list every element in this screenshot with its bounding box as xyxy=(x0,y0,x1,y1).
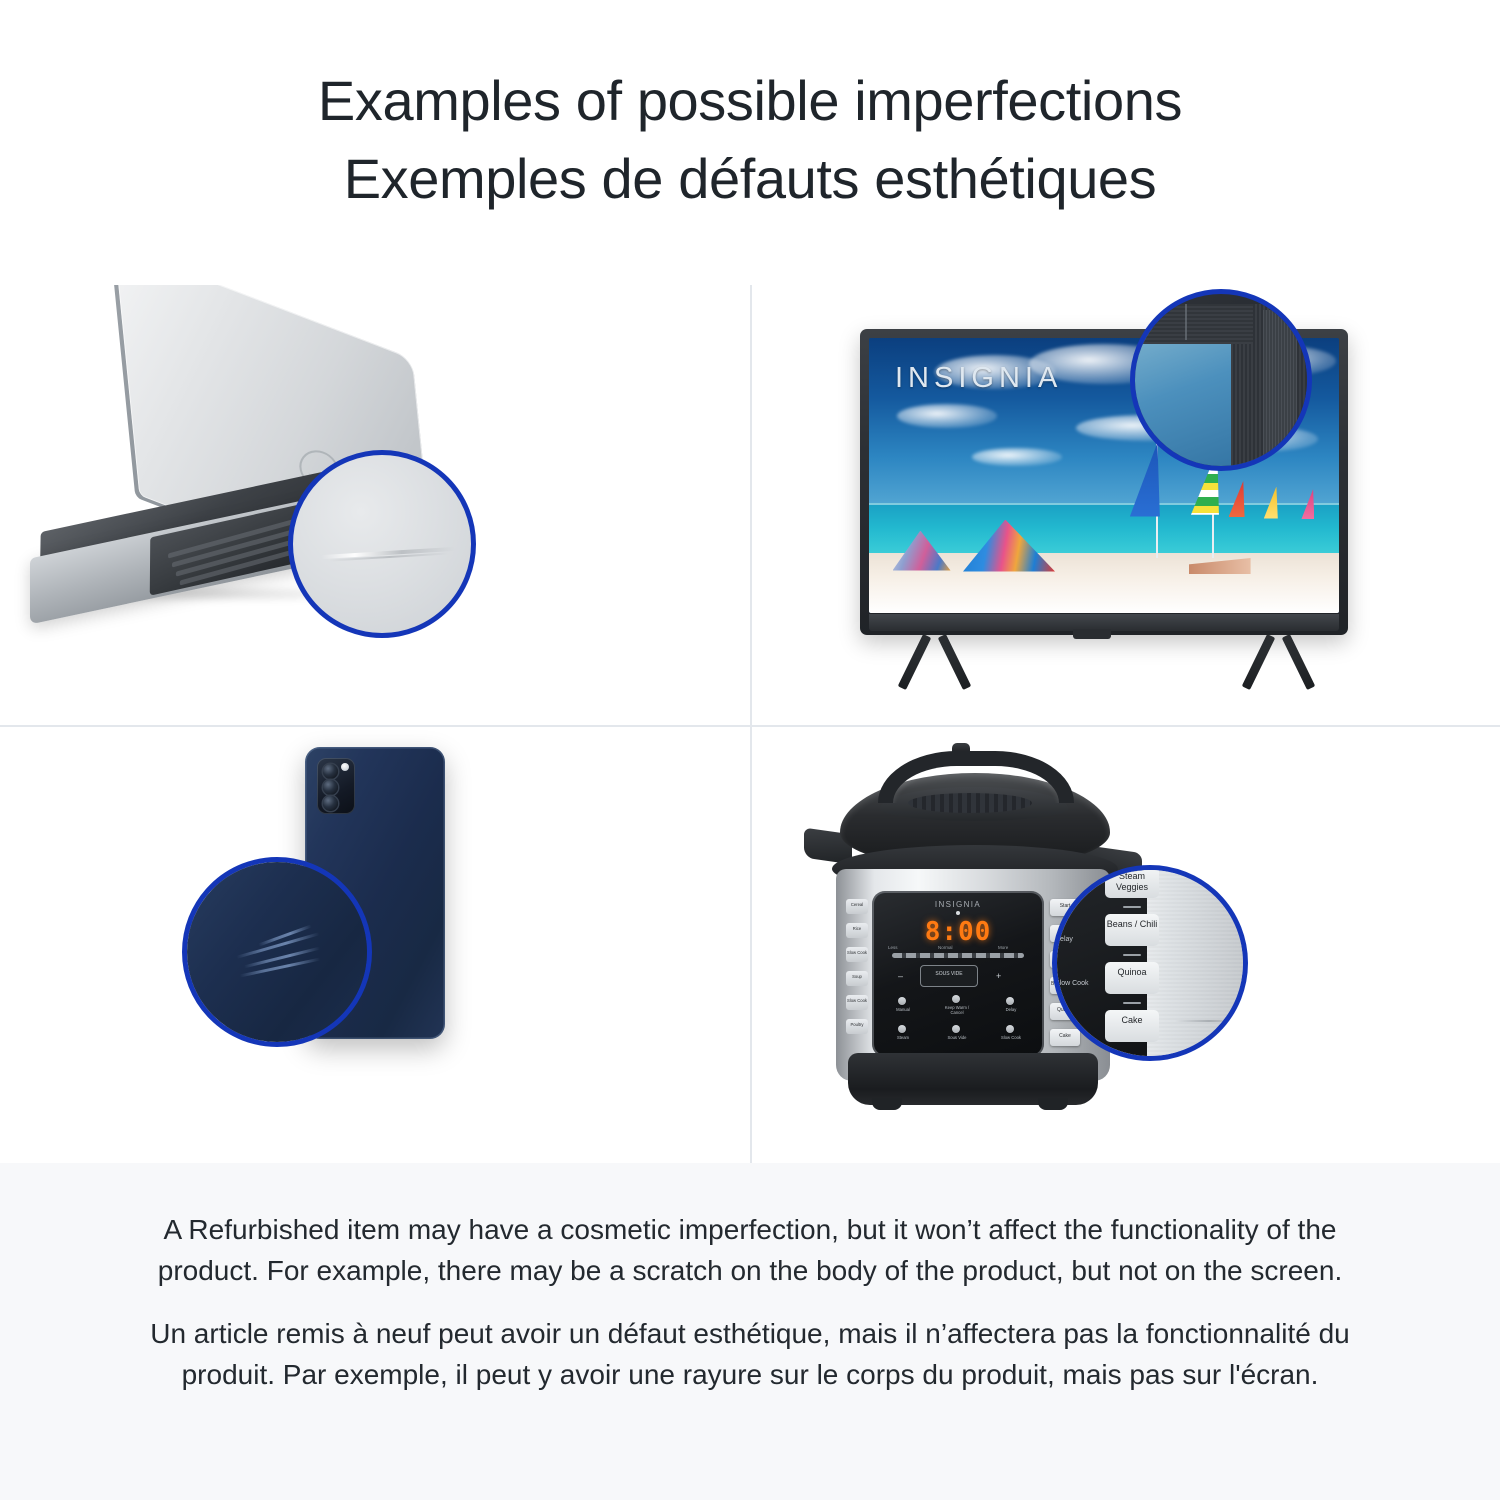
tv-magnified-bezel-edge xyxy=(1263,310,1297,471)
cooker-magnified-scratch xyxy=(1175,1020,1243,1022)
tv-screen-brand-logo: INSIGNIA xyxy=(895,362,1062,395)
title-line-fr: Exemples de défauts esthétiques xyxy=(0,140,1500,218)
phone-camera-lens-3 xyxy=(323,796,338,811)
cooker-indicator-light xyxy=(956,911,960,915)
cooker-button-rice[interactable]: Rice xyxy=(846,923,868,938)
phone-camera-lens-2 xyxy=(323,780,338,795)
phone-camera-lens-1 xyxy=(323,764,338,779)
cooker-led-display: 8:00 xyxy=(872,917,1044,947)
cooker-button-steam-dot[interactable] xyxy=(898,1025,906,1033)
cooker-lid-handle xyxy=(878,751,1074,803)
cooker-button-manual-dot[interactable] xyxy=(898,997,906,1005)
cooker-button-poultry[interactable]: Poultry xyxy=(846,1019,868,1034)
cooker-slider-label-normal: Normal xyxy=(938,945,953,950)
tv-scene-horizon xyxy=(869,503,1339,505)
panel-cooker: INSIGNIA 8:00 Less Normal More – SOUS VI… xyxy=(752,727,1500,1163)
cooker-magnified-dash-1 xyxy=(1123,906,1141,908)
cooker-magnified-button-quinoa[interactable]: Quinoa xyxy=(1105,962,1159,994)
tv-magnified-bezel-top xyxy=(1130,304,1253,344)
tv-foot-left xyxy=(898,634,932,690)
footer-paragraph-en: A Refurbished item may have a cosmetic i… xyxy=(150,1163,1350,1291)
footer-description: A Refurbished item may have a cosmetic i… xyxy=(0,1163,1500,1500)
cooker-illustration: INSIGNIA 8:00 Less Normal More – SOUS VI… xyxy=(752,727,1500,1163)
phone-magnifier-circle xyxy=(182,857,372,1047)
cooker-mode-display: SOUS VIDE xyxy=(920,965,978,987)
infographic-page: Examples of possible imperfections Exemp… xyxy=(0,0,1500,1500)
cooker-pressure-slider[interactable] xyxy=(892,953,1024,958)
tv-foot-right2 xyxy=(1282,634,1316,690)
cooker-button-keepwarm-label: Keep Warm / Cancel xyxy=(942,1005,972,1015)
phone-magnified-back-panel xyxy=(187,862,367,1042)
cooker-button-slowcook-label: Slow Cook xyxy=(996,1035,1026,1040)
cooker-control-panel: INSIGNIA 8:00 Less Normal More – SOUS VI… xyxy=(872,891,1044,1057)
cooker-minus-button[interactable]: – xyxy=(898,971,903,981)
cooker-brand-label: INSIGNIA xyxy=(872,900,1044,909)
laptop-magnifier-circle xyxy=(288,450,476,638)
phone-camera-module xyxy=(317,758,355,814)
cooker-magnified-button-beanschili[interactable]: Beans / Chili xyxy=(1105,914,1159,946)
cooker-magnified-button-cake[interactable]: Cake xyxy=(1105,1010,1159,1042)
cooker-foot-left xyxy=(872,1098,902,1110)
tv-foot-right xyxy=(1242,634,1276,690)
phone-flash-icon xyxy=(341,763,349,771)
cooker-button-slowcook2[interactable]: Slow Cook xyxy=(846,995,868,1010)
cooker-magnified-dash-3 xyxy=(1123,1002,1141,1004)
cooker-magnifier-circle: Delay Slow Cook Steam Veggies Beans / Ch… xyxy=(1052,865,1248,1061)
panel-laptop xyxy=(0,285,750,725)
laptop-illustration xyxy=(0,285,750,725)
cooker-magnified-label-delay: Delay xyxy=(1055,936,1091,948)
tv-illustration: INSIGNIA xyxy=(752,285,1500,725)
tv-magnified-bezel-seam xyxy=(1185,304,1187,340)
tv-magnifier-circle xyxy=(1130,289,1312,471)
page-title: Examples of possible imperfections Exemp… xyxy=(0,62,1500,218)
cooker-base xyxy=(848,1053,1098,1105)
cooker-slider-label-less: Less xyxy=(888,945,898,950)
cooker-button-keepwarm-dot[interactable] xyxy=(952,995,960,1003)
cooker-button-sousvide-dot[interactable] xyxy=(952,1025,960,1033)
panel-tv: INSIGNIA xyxy=(752,285,1500,725)
product-grid: INSIGNIA xyxy=(0,285,1500,1163)
cooker-button-slowcook[interactable]: Slow Cook xyxy=(846,947,868,962)
cooker-button-delay-label: Delay xyxy=(996,1007,1026,1012)
cooker-button-delay-dot[interactable] xyxy=(1006,997,1014,1005)
cooker-button-manual-label: Manual xyxy=(888,1007,918,1012)
panel-phone xyxy=(0,727,750,1163)
cooker-magnified-dash-2 xyxy=(1123,954,1141,956)
cooker-magnified-label-slowcook: Slow Cook xyxy=(1055,980,1091,992)
tv-foot-left2 xyxy=(938,634,972,690)
cooker-mode-text: SOUS VIDE xyxy=(921,971,977,977)
title-line-en: Examples of possible imperfections xyxy=(0,62,1500,140)
cooker-button-sousvide-label: Sous Vide xyxy=(942,1035,972,1040)
cooker-foot-right xyxy=(1038,1098,1068,1110)
cooker-button-steam-label: Steam xyxy=(888,1035,918,1040)
cooker-button-cereal[interactable]: Cereal xyxy=(846,899,868,914)
cooker-button-slowcook-dot[interactable] xyxy=(1006,1025,1014,1033)
cooker-magnified-button-steamveggies[interactable]: Steam Veggies xyxy=(1105,866,1159,898)
cooker-plus-button[interactable]: + xyxy=(996,971,1001,981)
phone-illustration xyxy=(0,727,750,1163)
footer-paragraph-fr: Un article remis à neuf peut avoir un dé… xyxy=(150,1291,1350,1395)
cooker-button-soup[interactable]: Soup xyxy=(846,971,868,986)
tv-ir-sensor xyxy=(1073,629,1111,639)
cooker-slider-label-more: More xyxy=(998,945,1008,950)
